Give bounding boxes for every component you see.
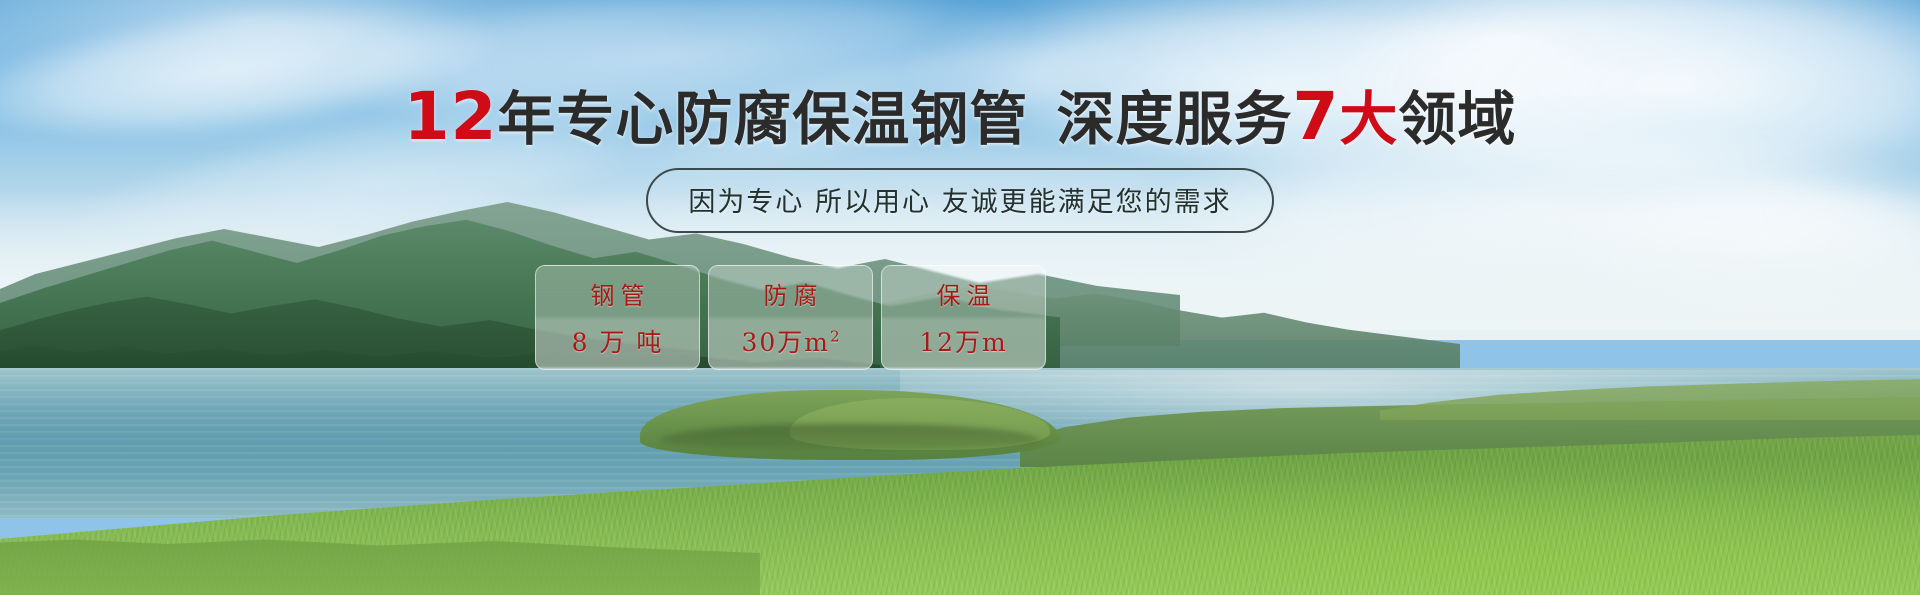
headline-text-secondary: 深度服务 bbox=[1056, 85, 1292, 153]
stat-card-label: 防腐 bbox=[758, 276, 824, 311]
headline-fields-unit: 大 bbox=[1339, 85, 1398, 153]
stat-card-value: 30万m2 bbox=[741, 323, 839, 359]
stat-card-value: 8 万 吨 bbox=[572, 323, 664, 359]
stat-value-text: 30万m bbox=[741, 328, 830, 357]
banner-subtitle-wrapper: 因为专心 所以用心 友诚更能满足您的需求 bbox=[0, 168, 1920, 233]
stat-card-value: 12万m bbox=[919, 323, 1008, 359]
banner-headline: 12年专心防腐保温钢管深度服务7大领域 bbox=[0, 86, 1920, 150]
stat-card-label: 钢管 bbox=[585, 276, 651, 311]
stat-card-insulation: 保温 12万m bbox=[881, 265, 1046, 370]
headline-years-number: 12 bbox=[404, 78, 498, 155]
stat-value-text: 8 万 吨 bbox=[572, 328, 664, 357]
headline-text-tail: 领域 bbox=[1398, 85, 1516, 153]
hero-banner: 12年专心防腐保温钢管深度服务7大领域 因为专心 所以用心 友诚更能满足您的需求… bbox=[0, 0, 1920, 595]
stat-card-steel-pipe: 钢管 8 万 吨 bbox=[535, 265, 700, 370]
headline-fields-number: 7 bbox=[1292, 78, 1339, 155]
banner-subtitle-pill: 因为专心 所以用心 友诚更能满足您的需求 bbox=[646, 168, 1273, 233]
stat-card-label: 保温 bbox=[931, 276, 997, 311]
stat-cards: 钢管 8 万 吨 防腐 30万m2 保温 12万m bbox=[535, 265, 1046, 370]
stat-value-text: 12万m bbox=[919, 328, 1008, 357]
stat-value-superscript: 2 bbox=[830, 328, 840, 346]
banner-content: 12年专心防腐保温钢管深度服务7大领域 因为专心 所以用心 友诚更能满足您的需求… bbox=[0, 0, 1920, 595]
headline-text-primary: 年专心防腐保温钢管 bbox=[497, 85, 1028, 153]
stat-card-anticorrosion: 防腐 30万m2 bbox=[708, 265, 873, 370]
